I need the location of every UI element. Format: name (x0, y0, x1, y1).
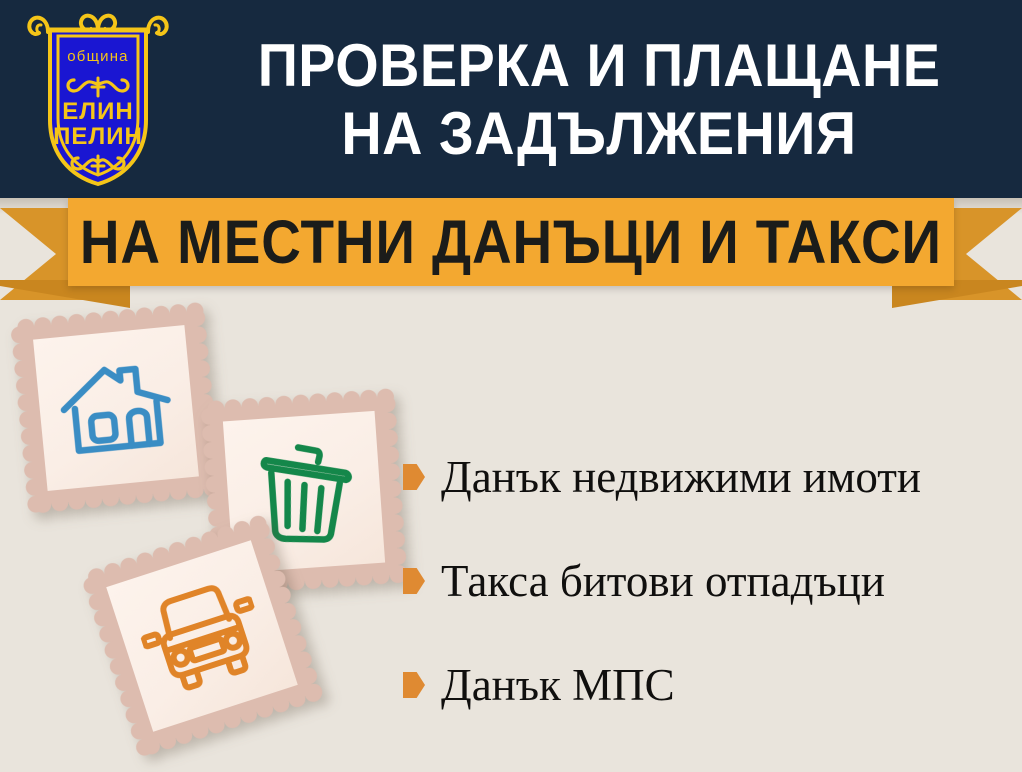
list-item: Такса битови отпадъци (403, 529, 1018, 633)
list-item-label: Данък недвижими имоти (441, 455, 921, 500)
tax-type-list: Данък недвижими имоти Такса битови отпад… (403, 425, 1018, 737)
house-icon (33, 325, 199, 491)
bullet-arrow-icon (403, 672, 425, 698)
municipality-logo: община ЕЛИН ПЕЛИН (22, 8, 174, 193)
poster-title: ПРОВЕРКА И ПЛАЩАНЕ НА ЗАДЪЛЖЕНИЯ (186, 14, 1012, 186)
ribbon-main-panel: НА МЕСТНИ ДАНЪЦИ И ТАКСИ (68, 198, 954, 286)
ribbon-banner: НА МЕСТНИ ДАНЪЦИ И ТАКСИ (0, 198, 1022, 316)
list-item-label: Такса битови отпадъци (441, 559, 885, 604)
logo-text-elin: ЕЛИН (62, 98, 133, 125)
bullet-arrow-icon (403, 568, 425, 594)
coat-of-arms-icon: община ЕЛИН ПЕЛИН (22, 8, 174, 193)
bullet-arrow-icon (403, 464, 425, 490)
title-line-1: ПРОВЕРКА И ПЛАЩАНЕ (258, 32, 941, 100)
list-item-label: Данък МПС (441, 663, 675, 708)
logo-text-obshtina: община (67, 48, 128, 65)
poster-canvas: община ЕЛИН ПЕЛИН ПРОВЕРКА И ПЛАЩАНЕ НА … (0, 0, 1022, 772)
stamp-card-group (0, 296, 420, 772)
list-item: Данък недвижими имоти (403, 425, 1018, 529)
logo-text-pelin: ПЕЛИН (53, 123, 143, 150)
ribbon-label: НА МЕСТНИ ДАНЪЦИ И ТАКСИ (80, 207, 942, 277)
list-item: Данък МПС (403, 633, 1018, 737)
stamp-card-property-tax (9, 301, 223, 515)
title-line-2: НА ЗАДЪЛЖЕНИЯ (341, 100, 856, 168)
